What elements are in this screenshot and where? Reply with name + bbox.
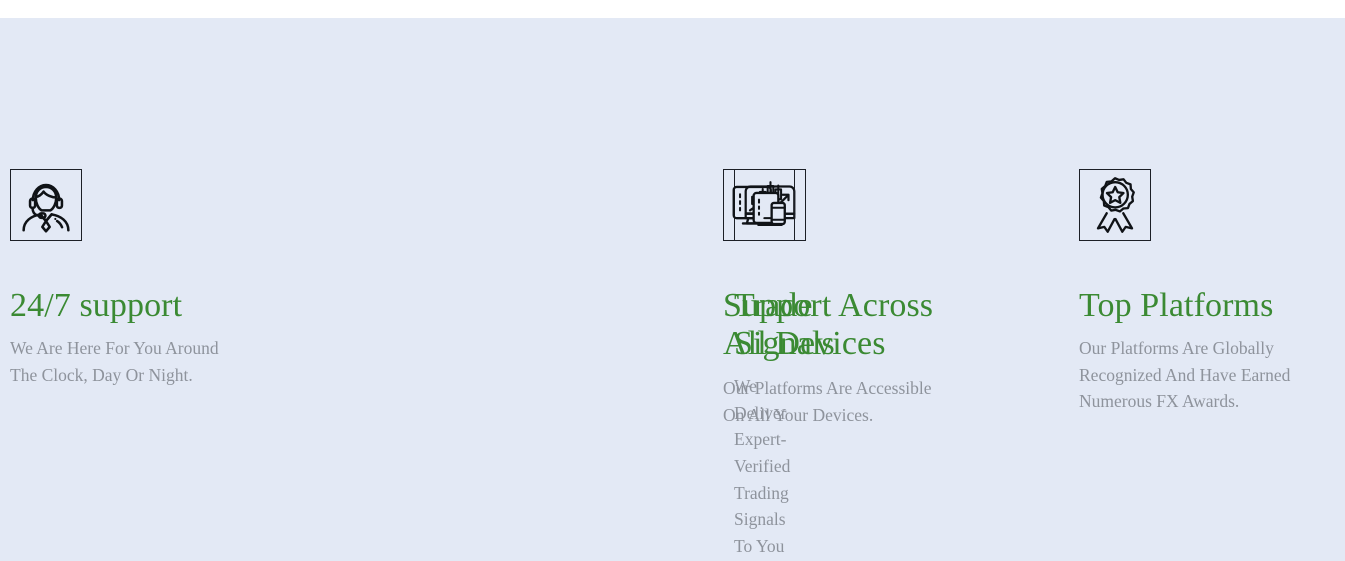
feature-card-top-platforms: Top Platforms Our Platforms Are Globally…	[1079, 169, 1345, 415]
feature-card-devices: Support Across All Devices Our Platforms…	[723, 169, 1023, 428]
feature-description: Our Platforms Are Accessible On All Your…	[723, 375, 932, 428]
feature-description: Our Platforms Are Globally Recognized An…	[1079, 335, 1290, 415]
feature-title: Top Platforms	[1079, 287, 1273, 325]
feature-card-trade-signals: Trade Signals We Deliver Expert-Verified…	[367, 169, 734, 561]
feature-title: Support Across All Devices	[723, 287, 933, 363]
multi-device-responsive-icon	[723, 169, 795, 241]
headset-support-agent-icon	[10, 169, 82, 241]
feature-description: We Are Here For You Around The Clock, Da…	[10, 335, 219, 388]
award-ribbon-star-icon	[1079, 169, 1151, 241]
features-section: 24/7 support We Are Here For You Around …	[0, 18, 1345, 561]
feature-card-support: 24/7 support We Are Here For You Around …	[10, 169, 310, 388]
top-white-strip	[0, 0, 1345, 18]
feature-title: 24/7 support	[10, 287, 182, 325]
features-page: 24/7 support We Are Here For You Around …	[0, 0, 1345, 561]
